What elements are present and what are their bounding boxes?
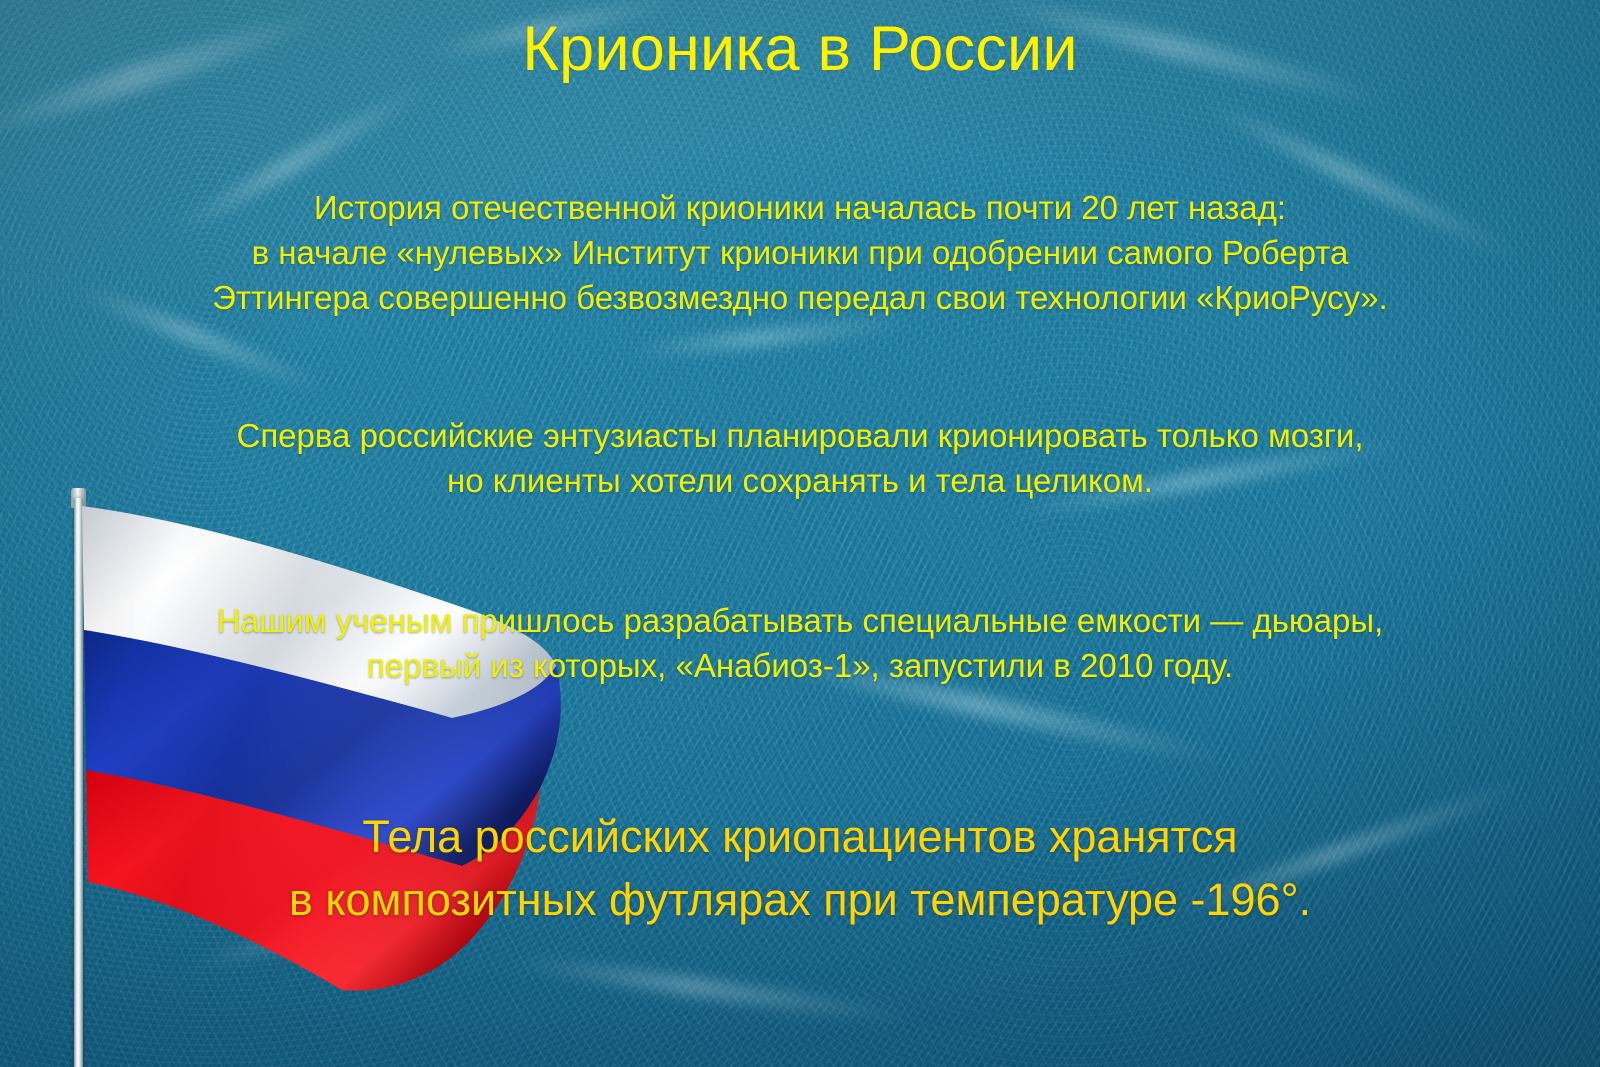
paragraph-line: Нашим ученым пришлось разрабатывать спец…	[0, 598, 1600, 643]
paragraph-dewars: Нашим ученым пришлось разрабатывать спец…	[0, 598, 1600, 688]
paragraph-enthusiasts: Сперва российские энтузиасты планировали…	[0, 413, 1600, 503]
paragraph-line: История отечественной крионики началась …	[0, 185, 1600, 230]
slide-title: Крионика в России	[0, 16, 1600, 82]
paragraph-line: первый из которых, «Анабиоз-1», запустил…	[0, 643, 1600, 688]
paragraph-line: Эттингера совершенно безвозмездно переда…	[0, 275, 1600, 320]
russian-flag	[0, 470, 620, 1067]
closing-line: в композитных футлярах при температуре -…	[0, 868, 1600, 931]
flag-cloth	[0, 470, 620, 1067]
paragraph-line: но клиенты хотели сохранять и тела целик…	[0, 458, 1600, 503]
paragraph-line: в начале «нулевых» Институт крионики при…	[0, 230, 1600, 275]
presentation-slide: Крионика в России История отечественной …	[0, 0, 1600, 1067]
paragraph-line: Сперва российские энтузиасты планировали…	[0, 413, 1600, 458]
closing-line: Тела российских криопациентов хранятся	[0, 805, 1600, 868]
closing-statement: Тела российских криопациентов хранятся в…	[0, 805, 1600, 931]
paragraph-history: История отечественной крионики началась …	[0, 185, 1600, 320]
